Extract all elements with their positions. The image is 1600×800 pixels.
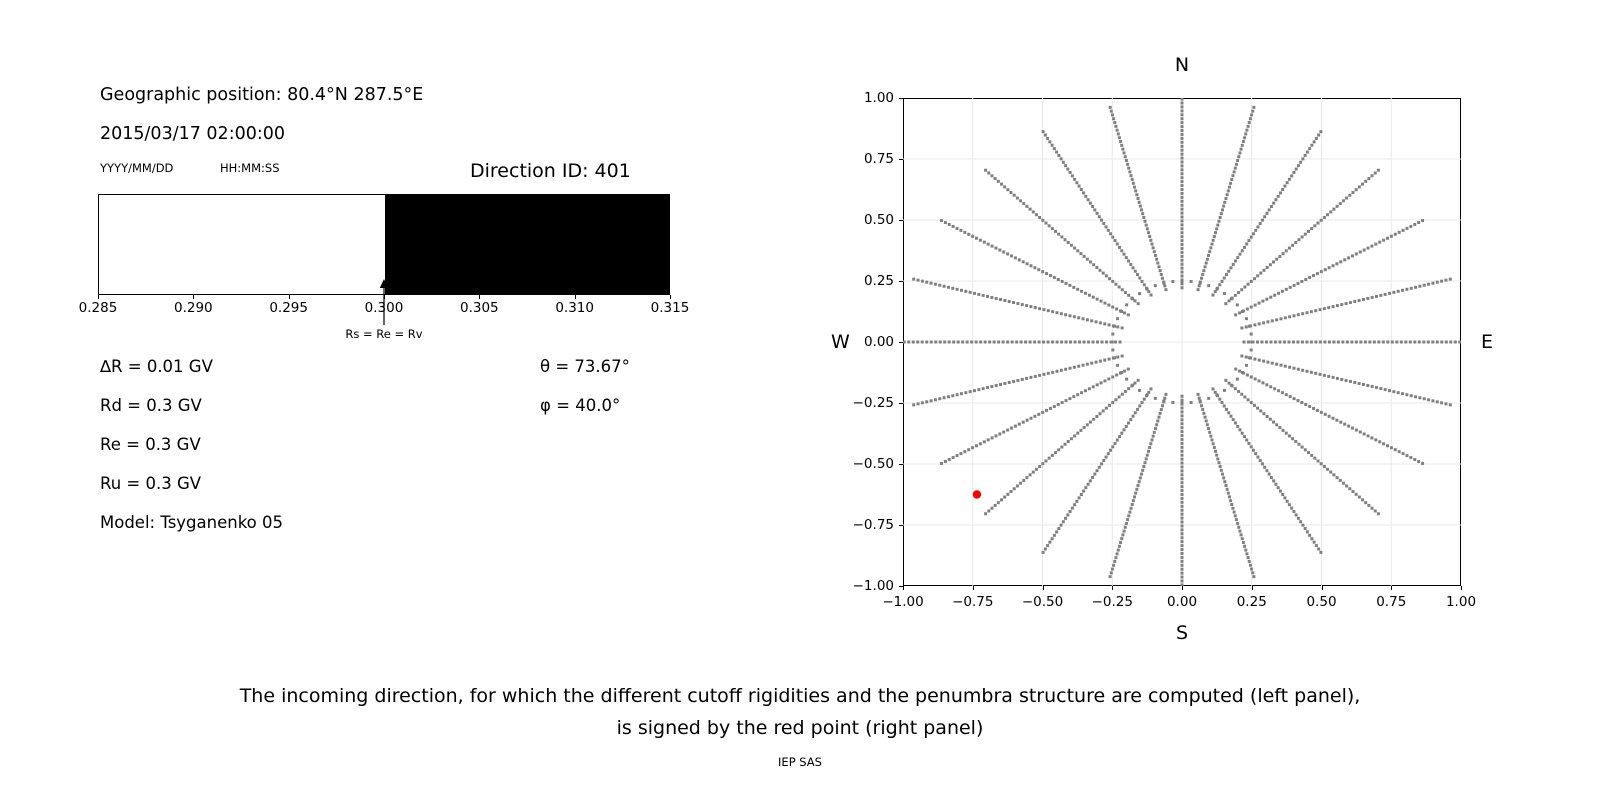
x-tick-label: 0.50 [1306,586,1336,610]
penumbra-tick-label: 0.295 [269,300,308,316]
param-phi: φ = 40.0° [540,396,620,415]
penumbra-tick-mark [98,295,99,299]
penumbra-tick-mark [479,295,480,299]
direction-id-label: Direction ID: 401 [470,160,631,182]
penumbra-tick-label: 0.300 [365,300,404,316]
x-tick-label: 0.75 [1376,586,1406,610]
sky-map-canvas [903,98,1461,586]
selected-direction-marker [973,490,981,498]
x-tick-label: −0.25 [1092,586,1133,610]
param-ru: Ru = 0.3 GV [100,474,201,493]
penumbra-tick-mark [384,295,385,299]
x-tick-label: −0.75 [952,586,993,610]
penumbra-tick-mark [193,295,194,299]
caption-line-1: The incoming direction, for which the di… [0,680,1600,712]
penumbra-tick-label: 0.305 [460,300,499,316]
param-delta-r: ∆R = 0.01 GV [100,357,213,376]
penumbra-tick-mark [670,295,671,299]
penumbra-tick-mark [289,295,290,299]
compass-east: E [1481,331,1493,353]
x-tick-label: 1.00 [1446,586,1476,610]
penumbra-tick-label: 0.285 [79,300,118,316]
y-tick-label: 0.00 [864,334,903,350]
footer-credit: IEP SAS [0,755,1600,769]
x-tick-label: −0.50 [1022,586,1063,610]
caption-line-2: is signed by the red point (right panel) [0,712,1600,744]
penumbra-forbidden-region [385,195,670,294]
penumbra-tick-label: 0.315 [651,300,690,316]
y-tick-label: −0.50 [853,456,903,472]
y-tick-label: 0.50 [864,212,903,228]
geographic-position: Geographic position: 80.4°N 287.5°E [100,85,423,105]
param-theta: θ = 73.67° [540,357,630,376]
x-tick-label: 0.25 [1237,586,1267,610]
param-model: Model: Tsyganenko 05 [100,513,283,532]
compass-north: N [1175,54,1189,76]
penumbra-tick-label: 0.310 [555,300,594,316]
left-panel: Geographic position: 80.4°N 287.5°E 2015… [0,0,760,660]
x-tick-label: −1.00 [882,586,923,610]
y-tick-label: 0.75 [864,151,903,167]
time-format-hint: HH:MM:SS [220,161,280,175]
date-format-hint: YYYY/MM/DD [100,161,173,175]
penumbra-axis-label: Rs = Re = Rv [345,327,422,341]
param-re: Re = 0.3 GV [100,435,201,454]
penumbra-x-axis: Rs = Re = Rv 0.2850.2900.2950.3000.3050.… [98,295,670,355]
compass-west: W [831,331,850,353]
y-tick-label: 0.25 [864,273,903,289]
param-rd: Rd = 0.3 GV [100,396,202,415]
figure-caption: The incoming direction, for which the di… [0,680,1600,744]
penumbra-tick-mark [575,295,576,299]
y-tick-label: 1.00 [864,90,903,106]
compass-south: S [1176,622,1188,644]
penumbra-tick-label: 0.290 [174,300,213,316]
sky-map-plot: N S W E −1.00−0.75−0.50−0.250.000.250.50… [903,98,1461,586]
x-tick-label: 0.00 [1167,586,1197,610]
y-tick-label: −0.25 [853,395,903,411]
datetime-value: 2015/03/17 02:00:00 [100,124,285,144]
y-tick-label: −0.75 [853,517,903,533]
